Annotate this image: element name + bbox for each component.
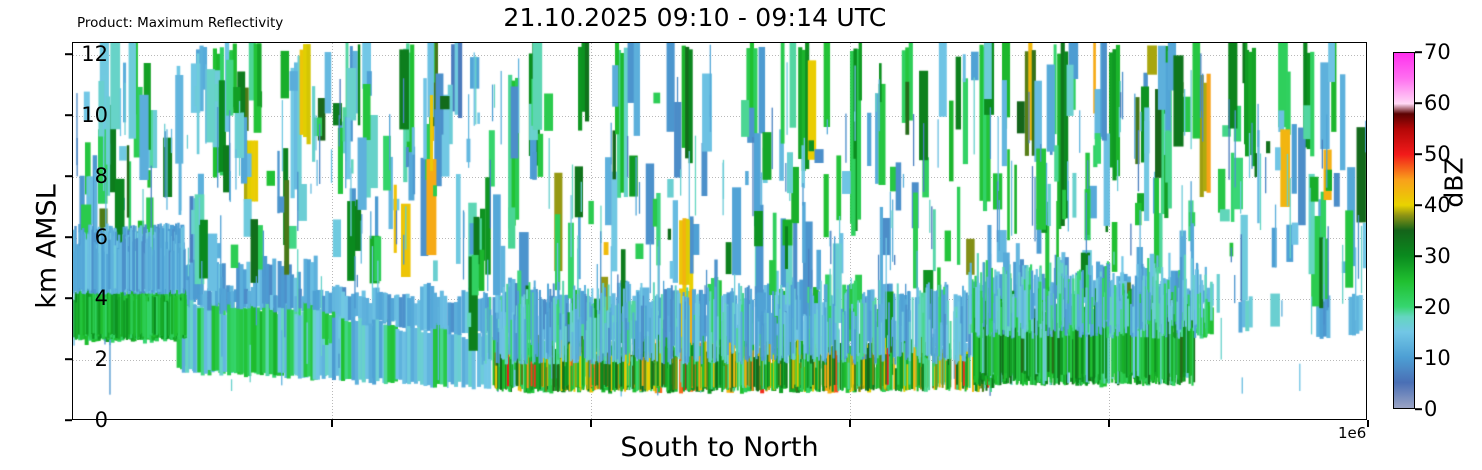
product-annotation: Product: Maximum Reflectivity [77,15,283,31]
y-tick-mark [65,236,72,238]
y-tick-mark [65,175,72,177]
x-axis-label: South to North [72,432,1367,463]
y-tick-label: 4 [48,286,108,310]
x-tick-mark [849,420,851,427]
colorbar [1393,52,1415,409]
colorbar-tick-mark [1415,306,1422,308]
colorbar-tick-label: 30 [1424,244,1451,268]
x-tick-mark [1108,420,1110,427]
colorbar-tick-mark [1415,102,1422,104]
x-tick-mark [1367,420,1369,427]
y-tick-label: 2 [48,347,108,371]
colorbar-tick-mark [1415,153,1422,155]
y-tick-label: 12 [48,42,108,66]
colorbar-tick-label: 10 [1424,346,1451,370]
colorbar-tick-mark [1415,51,1422,53]
colorbar-tick-label: 60 [1424,91,1451,115]
colorbar-tick-label: 0 [1424,397,1437,421]
colorbar-tick-label: 40 [1424,193,1451,217]
colorbar-tick-label: 20 [1424,295,1451,319]
colorbar-tick-label: 70 [1424,40,1451,64]
colorbar-tick-mark [1415,204,1422,206]
colorbar-tick-mark [1415,357,1422,359]
colorbar-tick-mark [1415,255,1422,257]
y-tick-label: 10 [48,103,108,127]
y-tick-mark [65,53,72,55]
plot-area [72,42,1367,420]
y-tick-mark [65,419,72,421]
y-tick-mark [65,358,72,360]
reflectivity-canvas [73,43,1367,420]
x-axis-offset-text: 1e6 [1338,424,1366,442]
colorbar-label: dBZ [1440,118,1469,248]
y-tick-mark [65,297,72,299]
colorbar-gradient [1394,53,1414,408]
x-tick-mark [590,420,592,427]
x-tick-mark [331,420,333,427]
y-tick-label: 0 [48,408,108,432]
colorbar-tick-mark [1415,408,1422,410]
y-tick-mark [65,114,72,116]
colorbar-tick-label: 50 [1424,142,1451,166]
radar-curtain-figure: 21.10.2025 09:10 - 09:14 UTC Product: Ma… [0,0,1482,470]
y-tick-label: 6 [48,225,108,249]
y-tick-label: 8 [48,164,108,188]
